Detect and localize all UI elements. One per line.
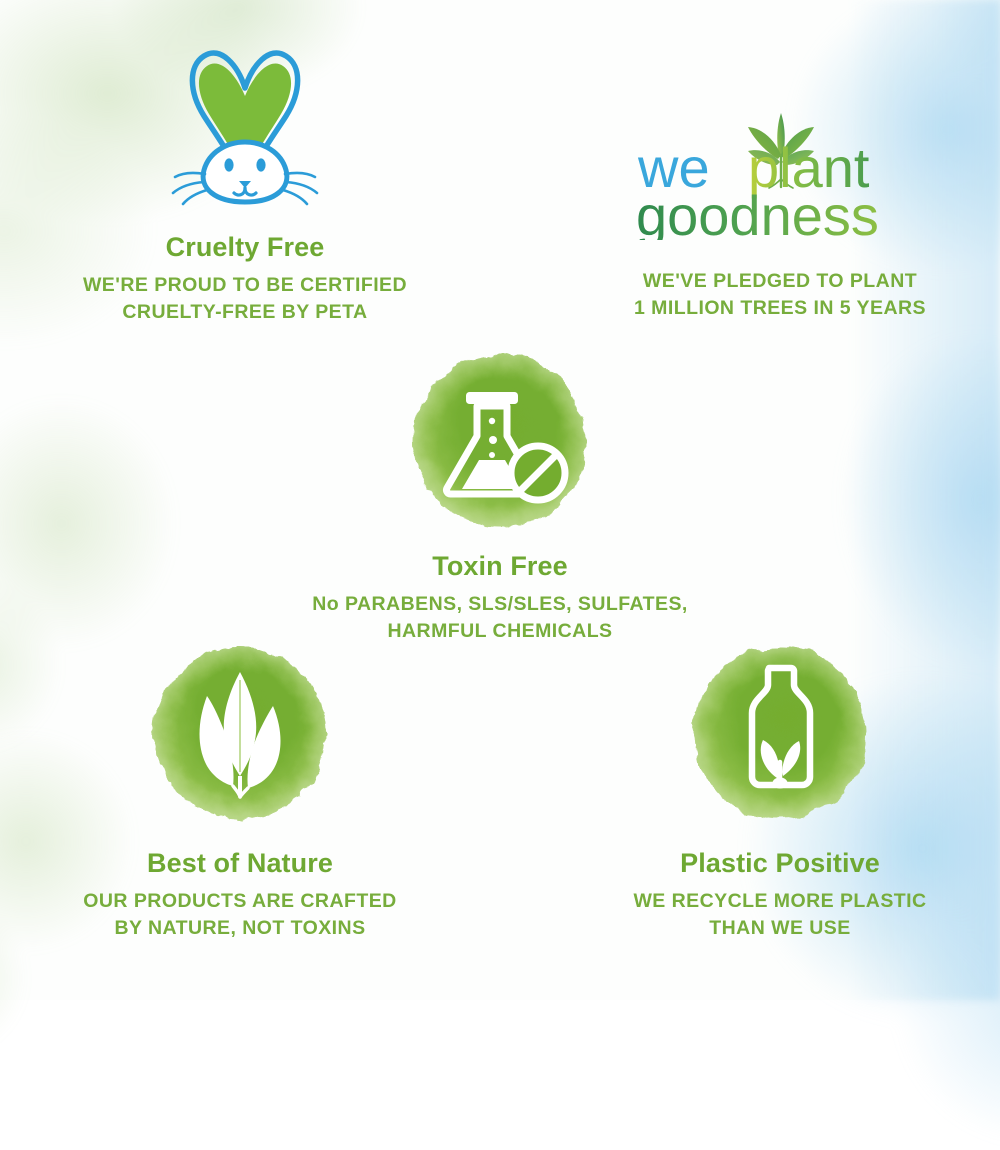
flask-no-toxins-icon — [407, 348, 593, 534]
feature-cruelty-free: Cruelty Free WE'RE PROUD TO BE CERTIFIED… — [40, 30, 450, 325]
three-leaves-icon — [147, 640, 333, 826]
feature-we-plant-goodness: we plant goodness WE'VE PLEDGED TO PLANT… — [570, 95, 990, 321]
feature-description-line-2: BY NATURE, NOT TOXINS — [35, 915, 445, 942]
logo-word-goodness: goodness — [636, 184, 879, 240]
feature-title: Toxin Free — [275, 551, 725, 582]
feature-title: Cruelty Free — [40, 232, 450, 263]
feature-best-of-nature: Best of Nature OUR PRODUCTS ARE CRAFTED … — [35, 640, 445, 941]
feature-description-line-1: WE RECYCLE MORE PLASTIC — [575, 888, 985, 915]
peta-cruelty-free-bunny-icon — [135, 30, 355, 220]
feature-description-line-2: CRUELTY-FREE BY PETA — [40, 299, 450, 326]
bottle-sprout-icon — [687, 640, 873, 826]
feature-title: Plastic Positive — [575, 848, 985, 879]
feature-description-line-2: 1 MILLION TREES IN 5 YEARS — [570, 295, 990, 322]
feature-description-line-1: WE'RE PROUD TO BE CERTIFIED — [40, 272, 450, 299]
feature-description: OUR PRODUCTS ARE CRAFTED BY NATURE, NOT … — [35, 888, 445, 941]
feature-description-line-2: THAN WE USE — [575, 915, 985, 942]
feature-description-line-1: OUR PRODUCTS ARE CRAFTED — [35, 888, 445, 915]
feature-title: Best of Nature — [35, 848, 445, 879]
feature-description-line-1: No PARABENS, SLS/SLES, SULFATES, — [275, 591, 725, 618]
feature-plastic-positive: Plastic Positive WE RECYCLE MORE PLASTIC… — [575, 640, 985, 941]
we-plant-goodness-logo: we plant goodness — [630, 95, 930, 240]
feature-description: No PARABENS, SLS/SLES, SULFATES, HARMFUL… — [275, 591, 725, 644]
feature-toxin-free: Toxin Free No PARABENS, SLS/SLES, SULFAT… — [275, 348, 725, 644]
feature-description: WE RECYCLE MORE PLASTIC THAN WE USE — [575, 888, 985, 941]
feature-description-line-1: WE'VE PLEDGED TO PLANT — [570, 268, 990, 295]
feature-description: WE'RE PROUD TO BE CERTIFIED CRUELTY-FREE… — [40, 272, 450, 325]
infographic-canvas: Cruelty Free WE'RE PROUD TO BE CERTIFIED… — [0, 0, 1000, 1000]
feature-description: WE'VE PLEDGED TO PLANT 1 MILLION TREES I… — [570, 268, 990, 321]
